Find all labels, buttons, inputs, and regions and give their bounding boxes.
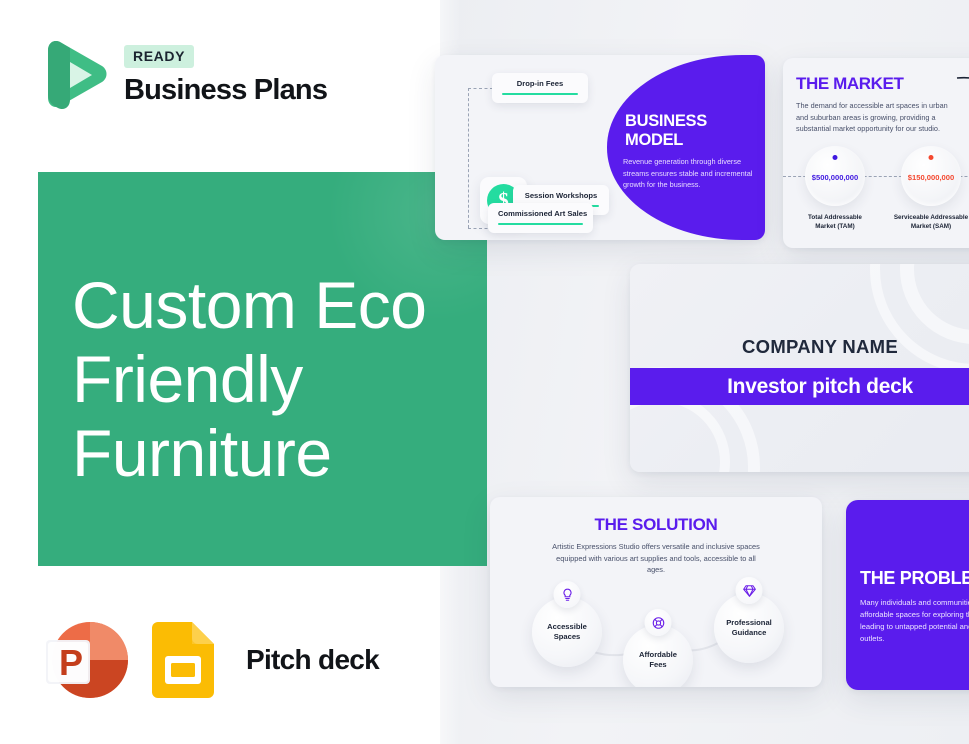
slide-business-model[interactable]: BUSINESS MODEL Revenue generation throug… <box>435 55 765 240</box>
play-triangle-logo-icon <box>40 36 110 114</box>
business-model-item[interactable]: Drop-in Fees <box>492 73 588 103</box>
market-metric-caption: Total Addressable Market (TAM) <box>797 214 873 231</box>
diamond-icon <box>736 577 763 604</box>
problem-title: THE PROBLEM <box>860 568 969 589</box>
cover-company-name: COMPANY NAME <box>630 336 969 358</box>
brand-text: READY Business Plans <box>124 43 327 107</box>
ready-badge: READY <box>124 45 194 68</box>
market-description: The demand for accessible art spaces in … <box>796 100 952 135</box>
slide-the-solution[interactable]: THE SOLUTION Artistic Expressions Studio… <box>490 497 822 687</box>
svg-text:P: P <box>59 642 83 683</box>
cover-subtitle: Investor pitch deck <box>727 375 913 399</box>
lightbulb-icon <box>554 581 581 608</box>
problem-description: Many individuals and communities lack ac… <box>860 597 969 645</box>
solution-node[interactable]: Professional Guidance <box>714 593 784 663</box>
business-model-title: BUSINESS MODEL <box>625 112 753 150</box>
powerpoint-icon[interactable]: P <box>42 618 130 702</box>
format-icons: P Pitch deck <box>42 618 379 702</box>
market-metric: $150,000,000 Serviceable Addressable Mar… <box>901 146 969 231</box>
solution-node[interactable]: Accessible Spaces <box>532 597 602 667</box>
page-title: Custom Eco Friendly Furniture <box>72 268 492 490</box>
curved-arrow-icon <box>955 74 969 119</box>
solution-node[interactable]: Affordable Fees <box>623 625 693 687</box>
business-model-item-label: Drop-in Fees <box>502 79 578 88</box>
market-metric: $500,000,000 Total Addressable Market (T… <box>805 146 873 231</box>
market-metric-value: $150,000,000 <box>908 173 954 182</box>
market-metric-circle: $500,000,000 <box>805 146 865 206</box>
slide-the-problem[interactable]: THE PROBLEM Many individuals and communi… <box>846 500 969 690</box>
business-model-item-label: Session Workshops <box>523 191 599 200</box>
metric-dot <box>929 155 934 160</box>
market-metric-caption: Serviceable Addressable Market (SAM) <box>893 214 969 231</box>
lifebuoy-icon <box>645 609 672 636</box>
accent-bar <box>498 223 583 225</box>
slide-cover[interactable]: COMPANY NAME Investor pitch deck <box>630 264 969 472</box>
business-model-item[interactable]: Commissioned Art Sales <box>488 203 593 233</box>
market-metric-circle: $150,000,000 <box>901 146 961 206</box>
brand-title: Business Plans <box>124 74 327 107</box>
connector-line-top <box>468 88 493 89</box>
metric-dot <box>833 155 838 160</box>
brand-logo[interactable]: READY Business Plans <box>40 36 327 114</box>
slide-the-market[interactable]: THE MARKET The demand for accessible art… <box>783 58 969 248</box>
business-model-item-label: Commissioned Art Sales <box>498 209 583 218</box>
google-slides-icon[interactable] <box>152 622 214 698</box>
market-title: THE MARKET <box>796 74 903 94</box>
connector-line-vertical <box>468 88 469 228</box>
page-canvas: Custom Eco Friendly Furniture READY Busi… <box>0 0 969 744</box>
market-metric-value: $500,000,000 <box>812 173 858 182</box>
accent-bar <box>502 93 578 95</box>
format-label: Pitch deck <box>246 644 379 676</box>
cover-subtitle-band: Investor pitch deck <box>630 368 969 405</box>
business-model-description: Revenue generation through diverse strea… <box>623 156 753 191</box>
